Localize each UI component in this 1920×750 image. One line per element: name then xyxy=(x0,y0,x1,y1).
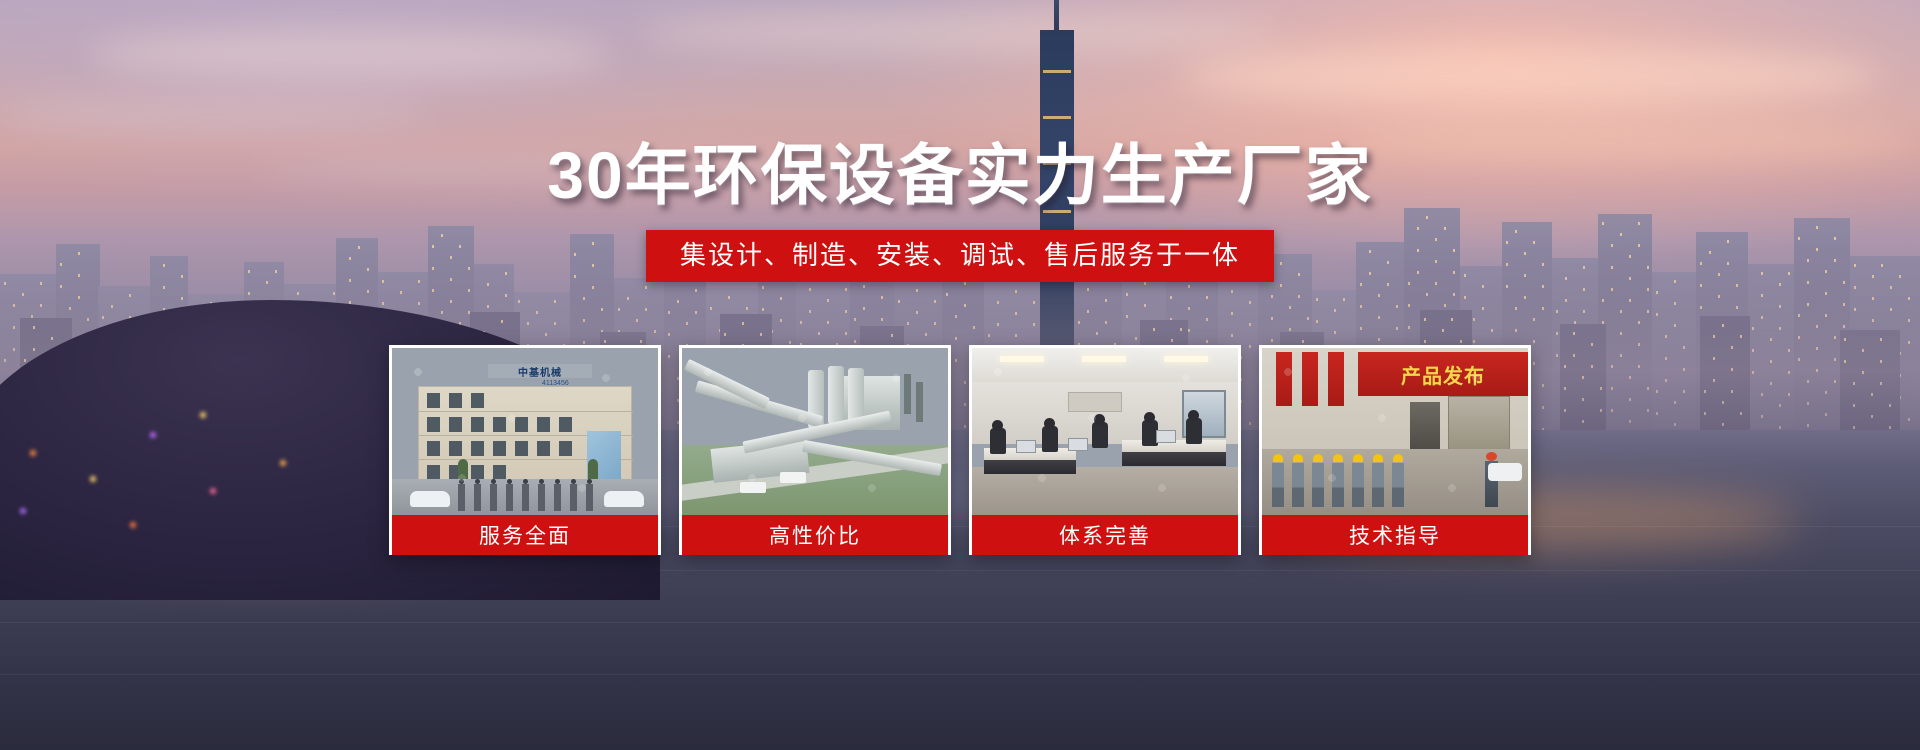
tagline-text: 集设计、制造、安装、调试、售后服务于一体 xyxy=(680,242,1240,268)
feature-card-2[interactable]: 高性价比 xyxy=(679,345,951,555)
feature-card-1[interactable]: 中基机械 4113456 服务全面 xyxy=(389,345,661,555)
page-title: 30年环保设备实力生产厂家 xyxy=(0,122,1920,218)
card-caption: 体系完善 xyxy=(972,515,1238,555)
workshop-banner-text: 产品发布 xyxy=(1358,352,1528,396)
building-phone-text: 4113456 xyxy=(542,380,569,387)
card-caption: 高性价比 xyxy=(682,515,948,555)
hero-banner: 30年环保设备实力生产厂家 集设计、制造、安装、调试、售后服务于一体 xyxy=(0,0,1920,750)
feature-card-row: 中基机械 4113456 服务全面 xyxy=(389,345,1531,555)
feature-card-4[interactable]: 产品发布 技术指导 xyxy=(1259,345,1531,555)
card-photo-workshop-workers: 产品发布 xyxy=(1262,348,1528,515)
card-caption: 服务全面 xyxy=(392,515,658,555)
tagline-banner: 集设计、制造、安装、调试、售后服务于一体 xyxy=(646,230,1274,282)
card-photo-office-interior xyxy=(972,348,1238,515)
card-photo-production-plant xyxy=(682,348,948,515)
feature-card-3[interactable]: 体系完善 xyxy=(969,345,1241,555)
card-caption: 技术指导 xyxy=(1262,515,1528,555)
building-sign-text: 中基机械 xyxy=(488,364,592,378)
card-photo-office-building: 中基机械 4113456 xyxy=(392,348,658,515)
